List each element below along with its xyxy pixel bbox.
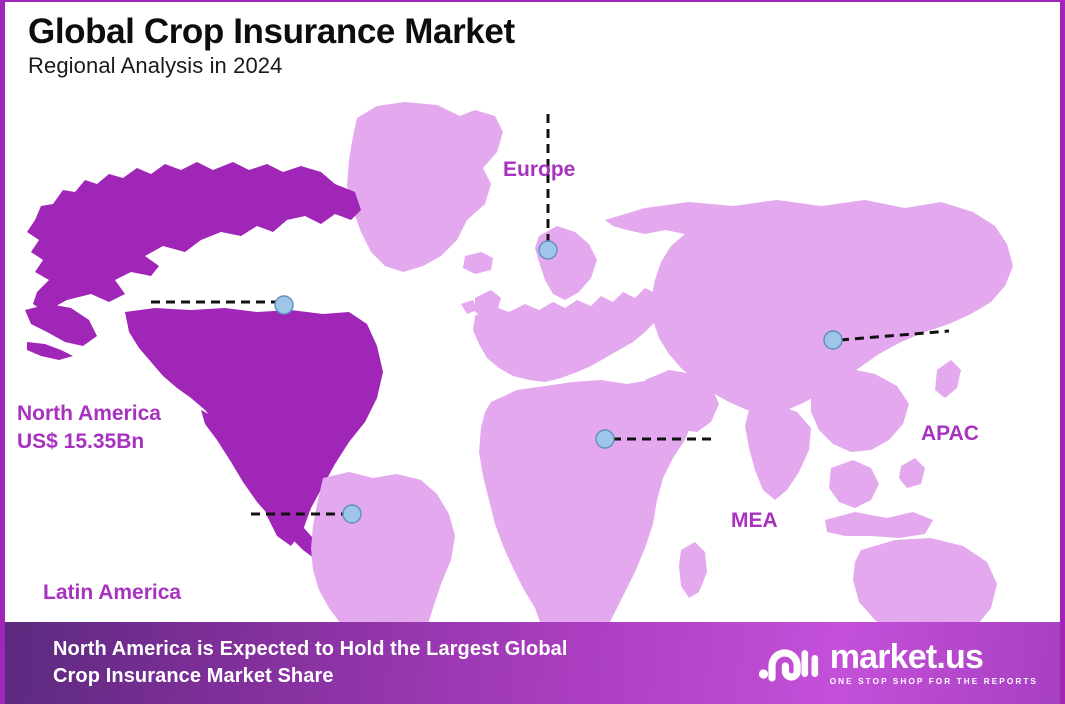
logo-wordmark: market.us bbox=[830, 640, 1038, 674]
market-us-logo-mark bbox=[758, 641, 820, 685]
region-australia bbox=[853, 538, 997, 625]
footer-headline-line2: Crop Insurance Market Share bbox=[53, 663, 568, 690]
region-label-mea: MEA bbox=[731, 507, 778, 535]
region-madagascar bbox=[679, 542, 707, 598]
region-scandinavia bbox=[535, 226, 597, 300]
region-europe bbox=[473, 288, 665, 382]
region-china-east bbox=[811, 368, 909, 452]
region-iceland bbox=[463, 252, 493, 274]
marker-north-america[interactable] bbox=[275, 296, 293, 314]
page-subtitle: Regional Analysis in 2024 bbox=[28, 53, 1028, 79]
region-japan bbox=[935, 360, 961, 398]
region-british-isles-small bbox=[461, 300, 477, 314]
logo-text: market.us ONE STOP SHOP FOR THE REPORTS bbox=[830, 640, 1038, 686]
footer-headline: North America is Expected to Hold the La… bbox=[53, 636, 568, 690]
logo-tagline: ONE STOP SHOP FOR THE REPORTS bbox=[830, 678, 1038, 686]
marker-apac[interactable] bbox=[824, 331, 842, 349]
region-alaska bbox=[25, 304, 97, 346]
region-indonesia bbox=[825, 512, 933, 538]
footer-banner: North America is Expected to Hold the La… bbox=[5, 622, 1065, 704]
region-label-north-america-name: North America bbox=[17, 400, 161, 428]
region-greenland bbox=[347, 102, 503, 272]
region-se-asia bbox=[829, 460, 879, 508]
region-label-latin-america: Latin America bbox=[43, 579, 181, 607]
region-africa bbox=[479, 380, 693, 625]
region-label-north-america: North America US$ 15.35Bn bbox=[17, 400, 161, 457]
header: Global Crop Insurance Market Regional An… bbox=[28, 12, 1028, 79]
marker-mea[interactable] bbox=[596, 430, 614, 448]
region-label-europe-name: Europe bbox=[503, 156, 575, 184]
region-philippines bbox=[899, 458, 925, 488]
region-label-europe: Europe bbox=[503, 156, 575, 184]
region-label-apac-name: APAC bbox=[921, 420, 979, 448]
infographic-container: Global Crop Insurance Market Regional An… bbox=[0, 0, 1065, 704]
marker-latin-america[interactable] bbox=[343, 505, 361, 523]
page-title: Global Crop Insurance Market bbox=[28, 12, 1028, 51]
region-label-mea-name: MEA bbox=[731, 507, 778, 535]
region-aleutians bbox=[27, 342, 73, 360]
marker-europe[interactable] bbox=[539, 241, 557, 259]
region-india bbox=[745, 404, 811, 500]
world-map: North America US$ 15.35Bn Latin America … bbox=[5, 80, 1065, 625]
region-south-america bbox=[311, 472, 455, 625]
region-label-apac: APAC bbox=[921, 420, 979, 448]
market-us-logo[interactable]: market.us ONE STOP SHOP FOR THE REPORTS bbox=[758, 640, 1048, 686]
region-label-latin-america-name: Latin America bbox=[43, 579, 181, 607]
region-label-north-america-value: US$ 15.35Bn bbox=[17, 428, 161, 456]
footer-headline-line1: North America is Expected to Hold the La… bbox=[53, 636, 568, 663]
